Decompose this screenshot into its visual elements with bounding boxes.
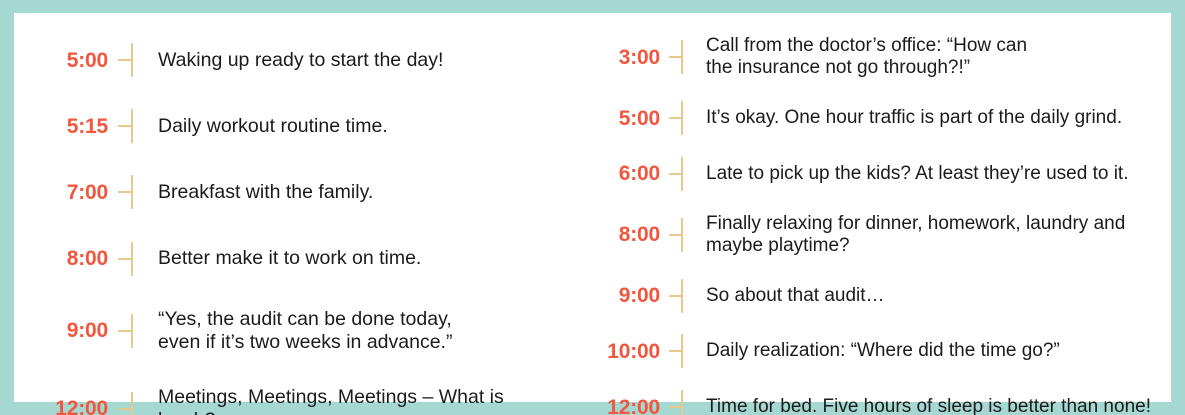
schedule-activity: So about that audit… <box>690 285 1171 307</box>
timeline-tick-bar <box>118 408 132 410</box>
schedule-activity: It’s okay. One hour traffic is part of t… <box>690 107 1171 129</box>
schedule-activity: Better make it to work on time. <box>144 247 559 270</box>
schedule-activity: Call from the doctor’s office: “How can … <box>690 35 1171 80</box>
schedule-row: 6:00Late to pick up the kids? At least t… <box>585 157 1171 191</box>
schedule-time: 8:00 <box>585 224 660 245</box>
timeline-tick-bar <box>118 258 132 260</box>
schedule-time: 7:00 <box>30 182 108 203</box>
schedule-row: 10:00Daily realization: “Where did the t… <box>585 334 1171 368</box>
schedule-time: 9:00 <box>585 285 660 306</box>
schedule-card: 5:00Waking up ready to start the day!5:1… <box>14 13 1171 402</box>
schedule-row: 7:00Breakfast with the family. <box>30 175 559 209</box>
schedule-row: 12:00Meetings, Meetings, Meetings – What… <box>30 386 559 415</box>
schedule-row: 5:00Waking up ready to start the day! <box>30 43 559 77</box>
schedule-activity: Meetings, Meetings, Meetings – What is l… <box>144 386 559 415</box>
schedule-row: 8:00Finally relaxing for dinner, homewor… <box>585 213 1171 258</box>
timeline-tick-stem <box>131 175 133 209</box>
schedule-row: 5:00It’s okay. One hour traffic is part … <box>585 101 1171 135</box>
timeline-tick-icon <box>660 279 690 313</box>
timeline-tick-icon <box>660 157 690 191</box>
timeline-tick-stem <box>681 334 683 368</box>
timeline-tick-icon <box>660 40 690 74</box>
schedule-time: 8:00 <box>30 248 108 269</box>
timeline-tick-icon <box>108 175 144 209</box>
timeline-tick-stem <box>131 109 133 143</box>
schedule-list-morning: 5:00Waking up ready to start the day!5:1… <box>30 13 559 415</box>
schedule-list-afternoon: 3:00Call from the doctor’s office: “How … <box>585 13 1171 415</box>
schedule-activity: Breakfast with the family. <box>144 181 559 204</box>
schedule-activity: Time for bed. Five hours of sleep is bet… <box>690 396 1171 415</box>
schedule-row: 9:00“Yes, the audit can be done today, e… <box>30 308 559 354</box>
timeline-tick-stem <box>131 392 133 415</box>
timeline-tick-icon <box>660 334 690 368</box>
schedule-time: 12:00 <box>30 398 108 415</box>
timeline-tick-stem <box>681 157 683 191</box>
schedule-time: 9:00 <box>30 320 108 341</box>
timeline-tick-stem <box>681 390 683 415</box>
timeline-tick-icon <box>108 392 144 415</box>
schedule-activity: “Yes, the audit can be done today, even … <box>144 308 559 354</box>
timeline-tick-bar <box>118 59 132 61</box>
timeline-tick-icon <box>660 101 690 135</box>
schedule-row: 5:15Daily workout routine time. <box>30 109 559 143</box>
timeline-tick-stem <box>681 218 683 252</box>
timeline-tick-bar <box>118 191 132 193</box>
schedule-column-afternoon: 3:00Call from the doctor’s office: “How … <box>559 13 1171 402</box>
timeline-tick-stem <box>131 242 133 276</box>
schedule-time: 12:00 <box>585 397 660 415</box>
schedule-column-morning: 5:00Waking up ready to start the day!5:1… <box>14 13 559 402</box>
schedule-row: 3:00Call from the doctor’s office: “How … <box>585 35 1171 80</box>
schedule-row: 9:00So about that audit… <box>585 279 1171 313</box>
schedule-time: 5:00 <box>30 50 108 71</box>
schedule-time: 5:15 <box>30 116 108 137</box>
timeline-tick-stem <box>131 43 133 77</box>
schedule-row: 12:00Time for bed. Five hours of sleep i… <box>585 390 1171 415</box>
schedule-time: 3:00 <box>585 47 660 68</box>
timeline-tick-stem <box>681 40 683 74</box>
schedule-activity: Late to pick up the kids? At least they’… <box>690 163 1171 185</box>
schedule-activity: Waking up ready to start the day! <box>144 49 559 72</box>
timeline-tick-icon <box>108 242 144 276</box>
schedule-row: 8:00Better make it to work on time. <box>30 242 559 276</box>
timeline-tick-stem <box>131 314 133 348</box>
schedule-time: 5:00 <box>585 108 660 129</box>
timeline-tick-icon <box>108 43 144 77</box>
timeline-tick-icon <box>660 218 690 252</box>
timeline-tick-icon <box>660 390 690 415</box>
timeline-tick-icon <box>108 109 144 143</box>
schedule-time: 10:00 <box>585 341 660 362</box>
timeline-tick-icon <box>108 314 144 348</box>
schedule-time: 6:00 <box>585 163 660 184</box>
daily-schedule-infographic: 5:00Waking up ready to start the day!5:1… <box>0 0 1185 415</box>
schedule-activity: Finally relaxing for dinner, homework, l… <box>690 213 1171 258</box>
timeline-tick-bar <box>118 125 132 127</box>
timeline-tick-bar <box>118 330 132 332</box>
timeline-tick-stem <box>681 101 683 135</box>
schedule-activity: Daily workout routine time. <box>144 115 559 138</box>
timeline-tick-stem <box>681 279 683 313</box>
schedule-activity: Daily realization: “Where did the time g… <box>690 340 1171 362</box>
